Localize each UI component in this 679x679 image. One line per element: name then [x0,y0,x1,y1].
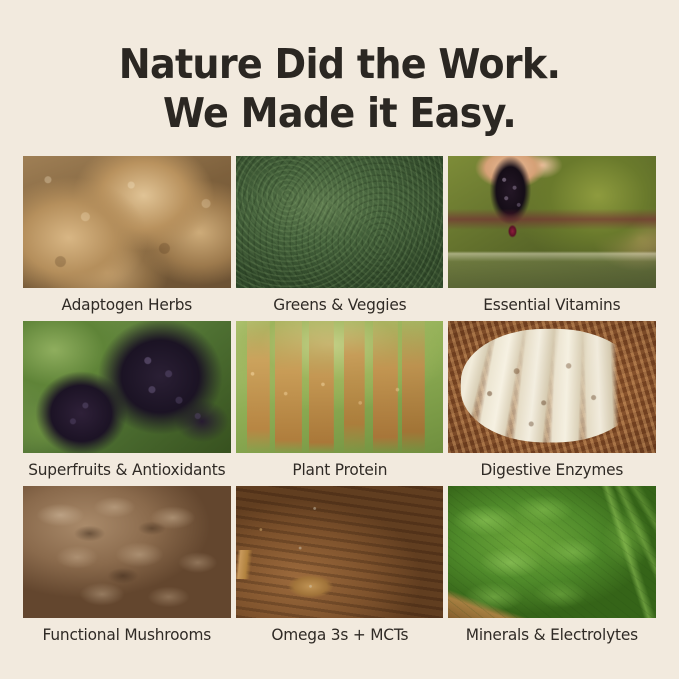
spirulina-powder-photo [236,156,444,288]
ingredient-caption: Functional Mushrooms [27,618,226,651]
ingredient-caption: Minerals & Electrolytes [452,618,651,651]
ingredient-card-digestive-enzymes: Digestive Enzymes [448,321,656,486]
ingredient-grid: Adaptogen Herbs Greens & Veggies Essenti… [23,156,656,651]
seed-bowls-coconut-photo [236,486,444,618]
maitake-mushrooms-photo [23,486,231,618]
ingredient-card-greens-veggies: Greens & Veggies [236,156,444,321]
headline-line-1: Nature Did the Work. [24,40,655,89]
page-title: Nature Did the Work. We Made it Easy. [24,0,655,138]
ingredient-caption: Superfruits & Antioxidants [27,453,226,486]
ingredient-caption: Digestive Enzymes [452,453,651,486]
blackberry-over-glass-photo [448,156,656,288]
ingredient-card-superfruits-antioxidants: Superfruits & Antioxidants [23,321,231,486]
acai-berry-clusters-photo [23,321,231,453]
headline-line-2: We Made it Easy. [24,89,655,138]
ingredient-card-plant-protein: Plant Protein [236,321,444,486]
ingredient-caption: Adaptogen Herbs [27,288,226,321]
ingredient-caption: Greens & Veggies [240,288,439,321]
ingredient-card-functional-mushrooms: Functional Mushrooms [23,486,231,651]
maca-roots-photo [23,156,231,288]
amaranth-seed-heads-photo [236,321,444,453]
ingredient-benefits-poster: Nature Did the Work. We Made it Easy. Ad… [0,0,679,679]
ingredient-caption: Plant Protein [240,453,439,486]
ingredient-card-omega3-mcts: Omega 3s + MCTs [236,486,444,651]
ingredient-card-adaptogen-herbs: Adaptogen Herbs [23,156,231,321]
ingredient-caption: Essential Vitamins [452,288,651,321]
ingredient-card-essential-vitamins: Essential Vitamins [448,156,656,321]
white-roots-in-basket-photo [448,321,656,453]
ingredient-caption: Omega 3s + MCTs [240,618,439,651]
ingredient-card-minerals-electrolytes: Minerals & Electrolytes [448,486,656,651]
spinach-leaves-photo [448,486,656,618]
